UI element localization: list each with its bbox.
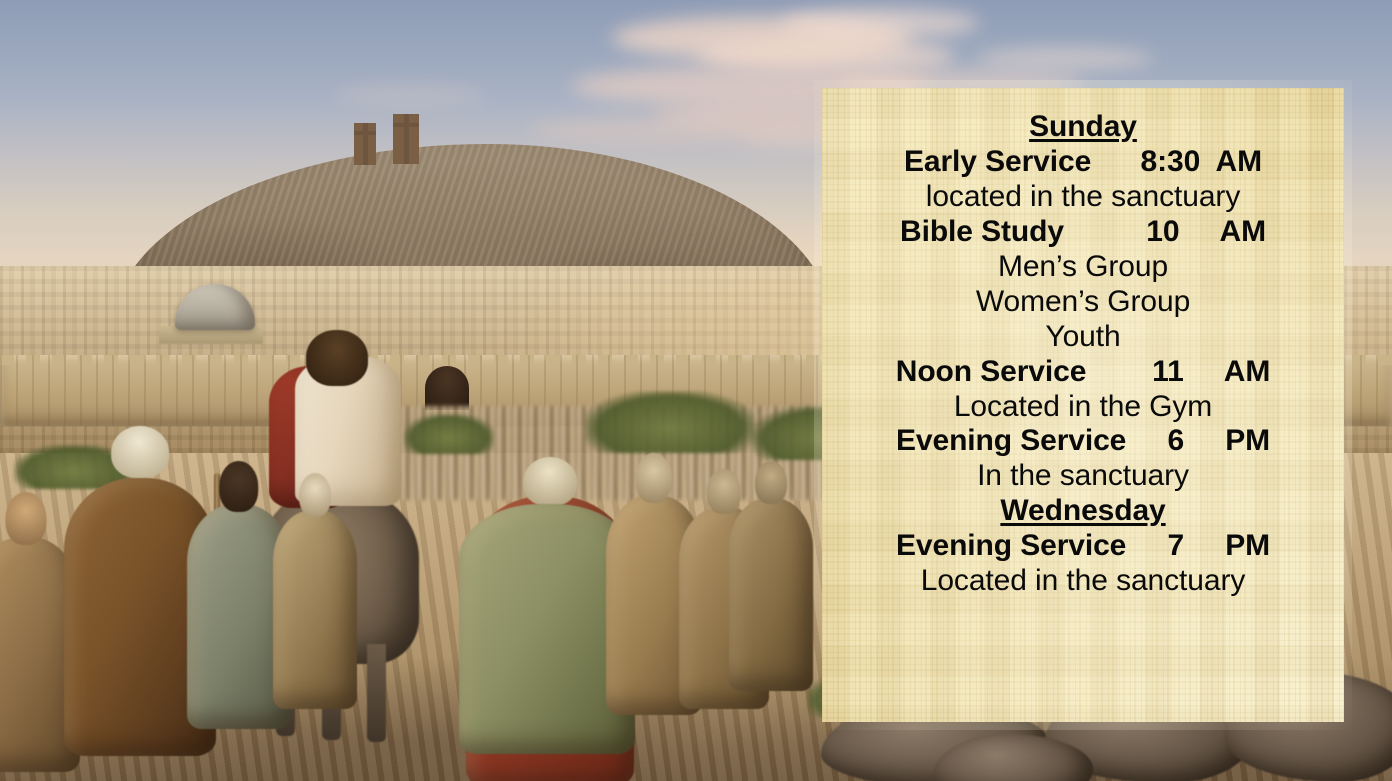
schedule-detail-row: In the sanctuary (840, 459, 1326, 494)
schedule-service-row: Bible Study 10 AM (840, 215, 1326, 250)
city-gate (425, 366, 469, 410)
slide-canvas: SundayEarly Service 8:30 AMlocated in th… (0, 0, 1392, 781)
schedule-detail-row: Located in the Gym (840, 390, 1326, 425)
cloud (780, 8, 980, 38)
cloud (334, 86, 484, 104)
schedule-service-row: Noon Service 11 AM (840, 355, 1326, 390)
crowd-figure (273, 473, 357, 709)
schedule-service-row: Evening Service 6 PM (840, 424, 1326, 459)
schedule-detail-row: Youth (840, 320, 1326, 355)
schedule-day-heading: Wednesday (840, 494, 1326, 529)
donkey-leg (367, 644, 386, 742)
palm-foliage (404, 414, 494, 454)
service-schedule-list: SundayEarly Service 8:30 AMlocated in th… (822, 88, 1344, 722)
schedule-detail-row: Men’s Group (840, 250, 1326, 285)
schedule-detail-row: Women’s Group (840, 285, 1326, 320)
schedule-detail-row: located in the sanctuary (840, 180, 1326, 215)
cloud (974, 47, 1154, 69)
crowd-figure (729, 461, 813, 691)
palm-foliage (585, 391, 755, 453)
cross-icon (393, 114, 419, 164)
schedule-detail-row: Located in the sanctuary (840, 564, 1326, 599)
schedule-service-row: Evening Service 7 PM (840, 529, 1326, 564)
cross-icon (354, 123, 376, 165)
jesus-figure (306, 330, 368, 386)
schedule-service-row: Early Service 8:30 AM (840, 145, 1326, 180)
schedule-day-heading: Sunday (840, 110, 1326, 145)
papyrus-schedule-panel: SundayEarly Service 8:30 AMlocated in th… (822, 88, 1344, 722)
